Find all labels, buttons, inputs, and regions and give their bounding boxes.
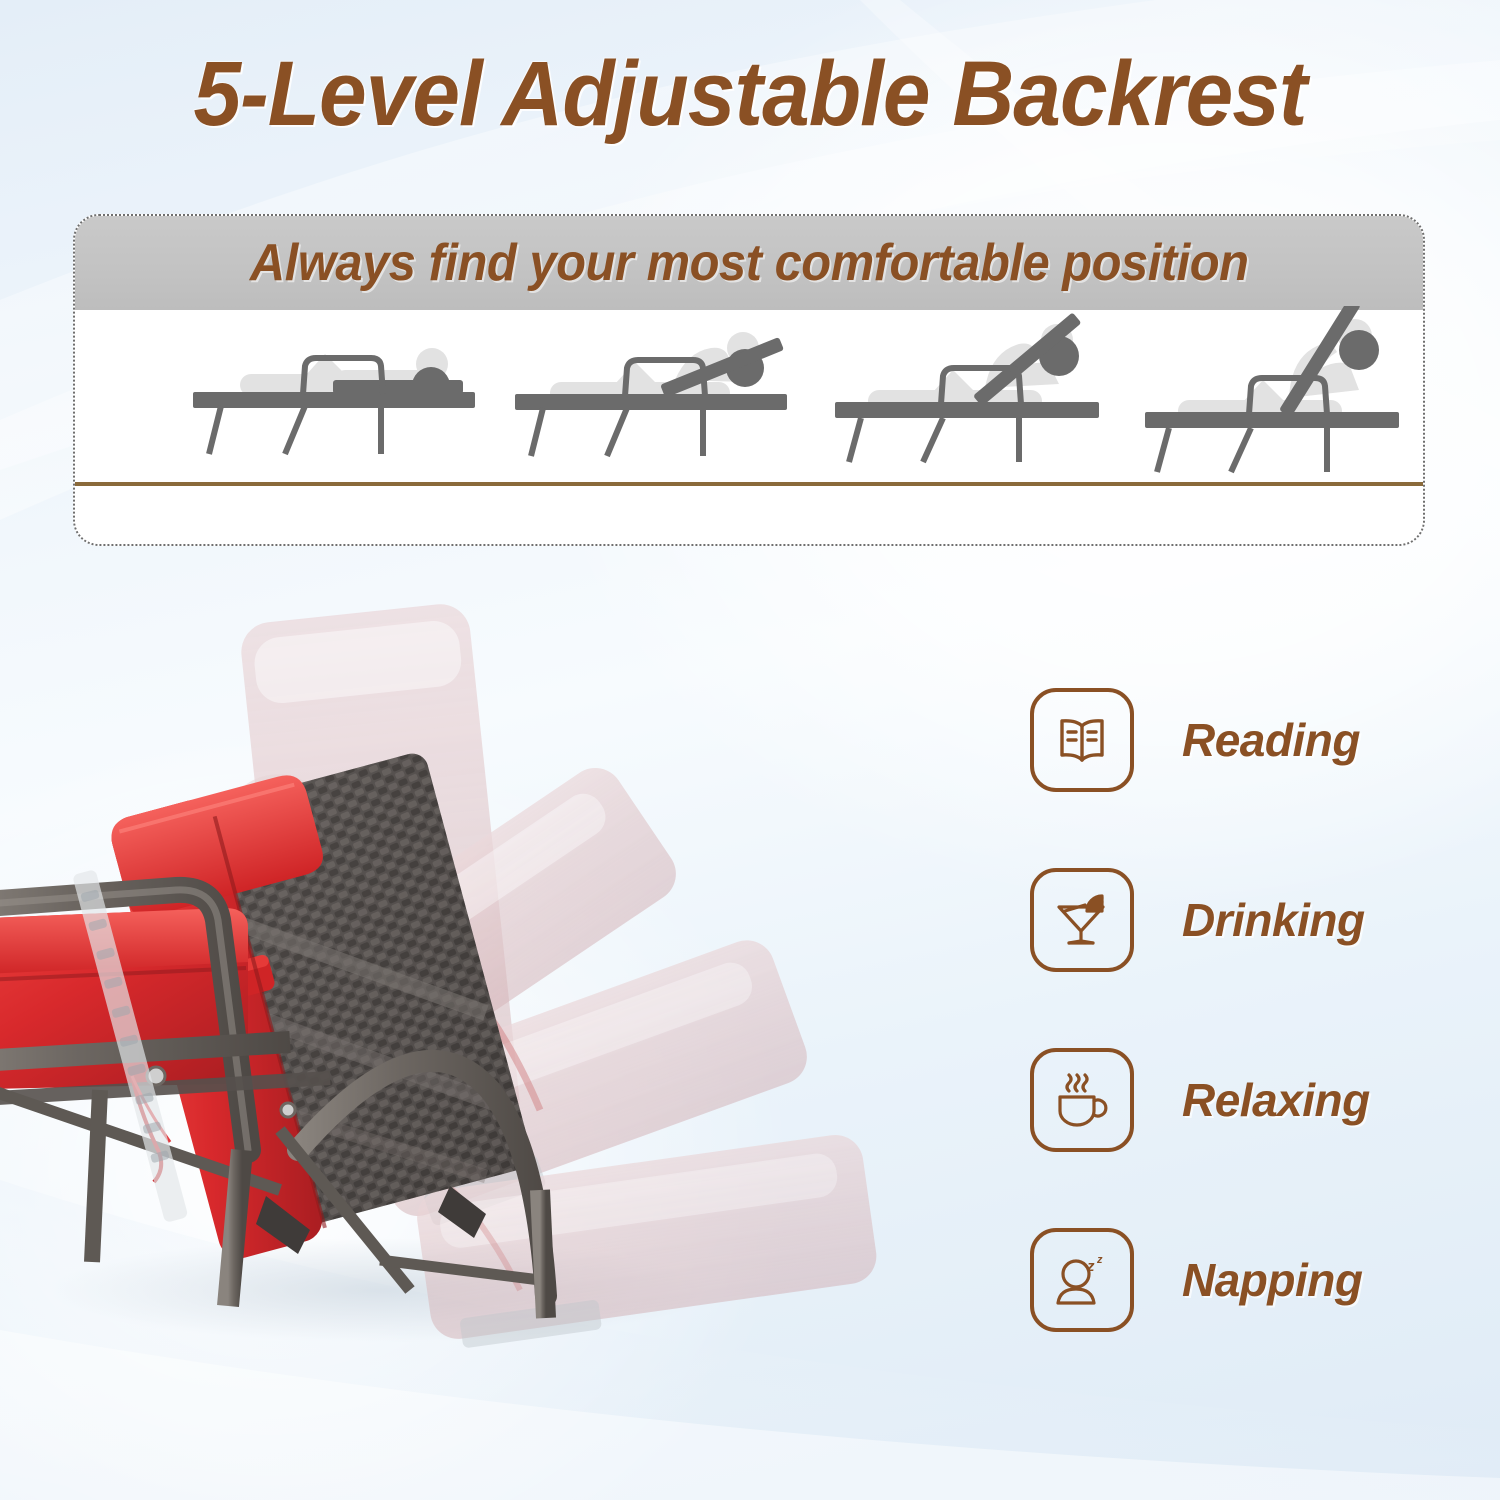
leg-rear [540,1190,546,1318]
position-panel-header-text: Always find your most comfortable positi… [250,233,1249,293]
position-diagram-2-low [515,306,845,506]
product-photo-adjustable-chaise [0,590,880,1370]
feature-item-drinking[interactable]: Drinking [1030,830,1460,1010]
svg-text:z: z [1096,1254,1103,1266]
coffee-icon-box [1030,1048,1134,1152]
svg-text:z: z [1086,1258,1095,1275]
book-icon [1052,710,1112,770]
cocktail-icon-box [1030,868,1134,972]
feature-label-napping: Napping [1182,1253,1362,1307]
feature-label-reading: Reading [1182,713,1360,767]
leg-mid [228,1150,242,1306]
position-diagram-1-flat [185,306,515,506]
sleep-icon: z z [1051,1249,1113,1311]
coffee-icon [1051,1069,1113,1131]
position-panel-header: Always find your most comfortable positi… [75,216,1423,310]
feature-list: Reading Drinking [1030,650,1460,1370]
cocktail-icon [1051,889,1113,951]
page-title: 5-Level Adjustable Backrest [53,42,1448,147]
feature-item-relaxing[interactable]: Relaxing [1030,1010,1460,1190]
feature-label-relaxing: Relaxing [1182,1073,1370,1127]
position-panel-body [75,310,1423,546]
feature-item-napping[interactable]: z z Napping [1030,1190,1460,1370]
book-icon-box [1030,688,1134,792]
feature-label-drinking: Drinking [1182,893,1365,947]
feature-item-reading[interactable]: Reading [1030,650,1460,830]
leg-front-right [92,1090,100,1262]
position-diagram-3-medium [835,306,1175,506]
sleep-icon-box: z z [1030,1228,1134,1332]
position-panel: Always find your most comfortable positi… [73,214,1425,546]
position-diagram-4-high [1145,306,1425,516]
